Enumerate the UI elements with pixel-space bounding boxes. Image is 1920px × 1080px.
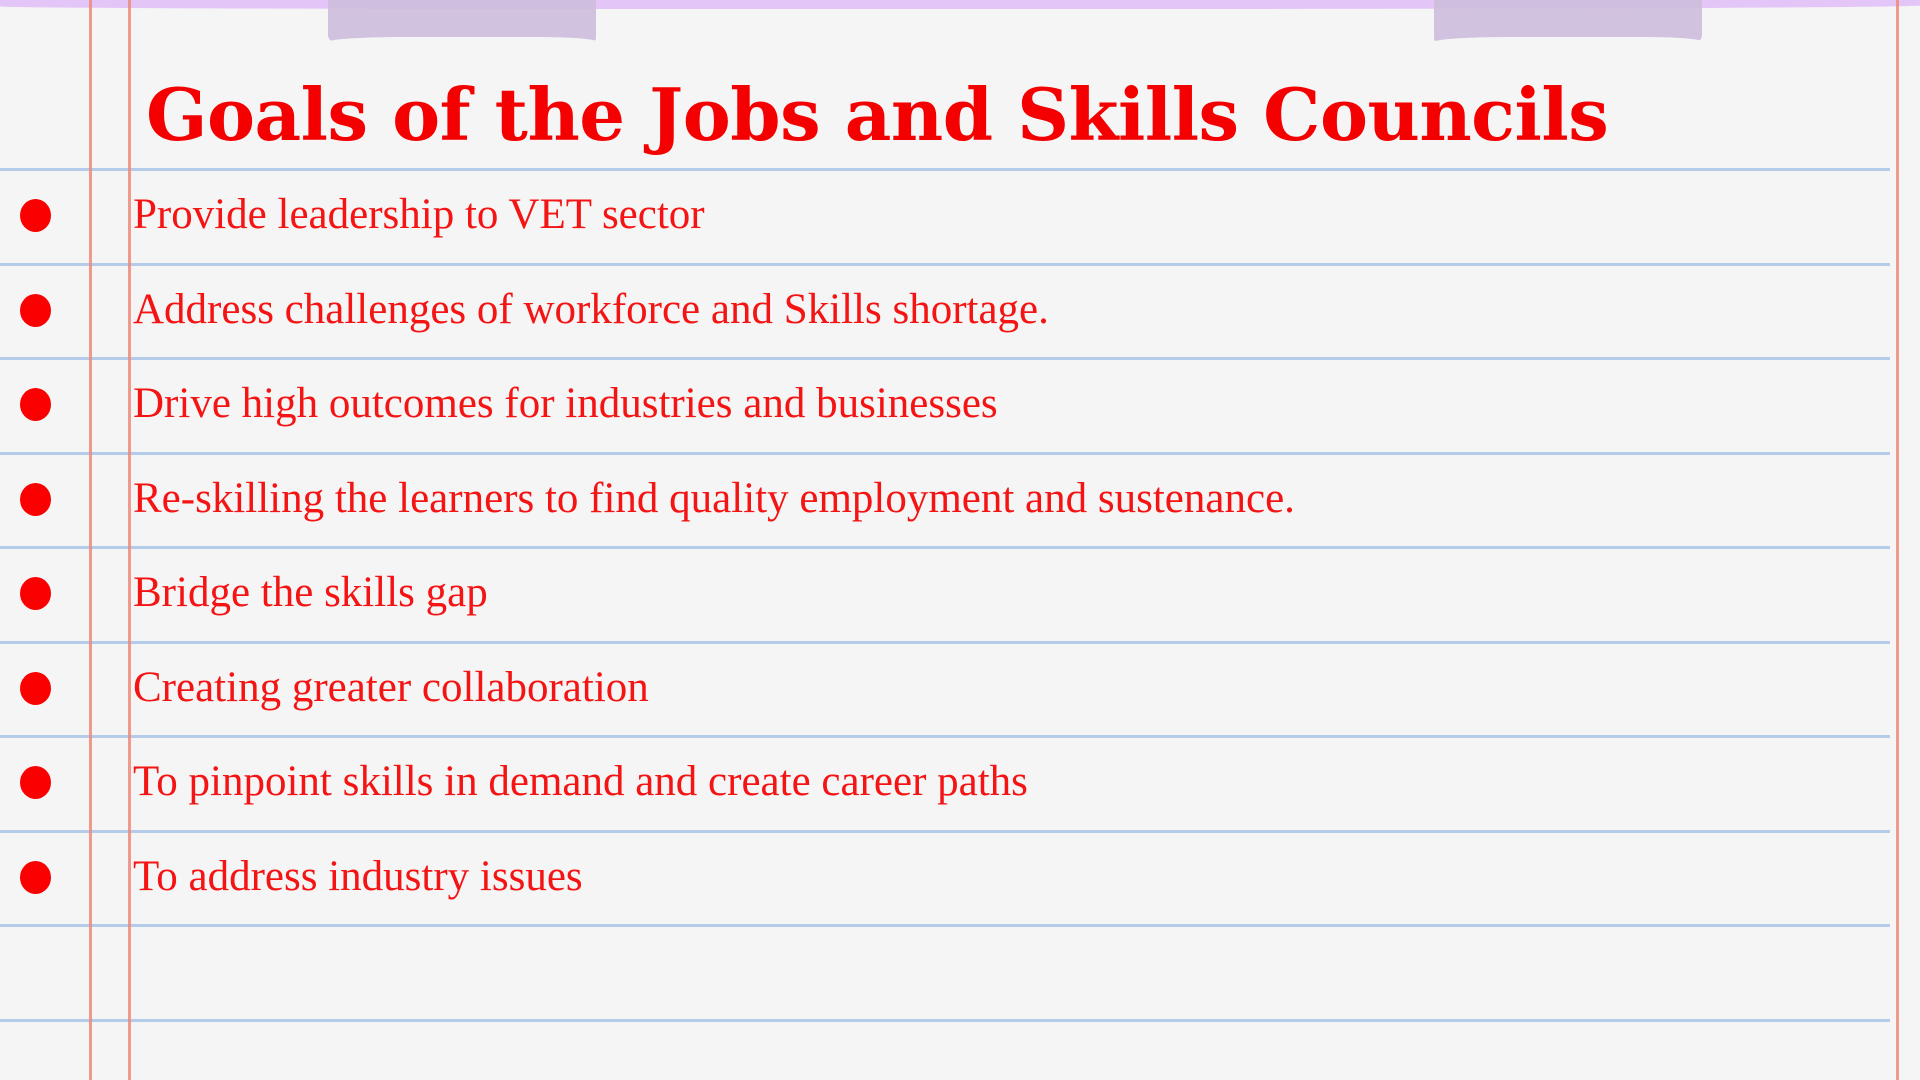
list-item[interactable]: Drive high outcomes for industries and b… [0,357,1920,451]
list-item-label: Provide leadership to VET sector [133,189,705,241]
list-item-label: Bridge the skills gap [133,567,488,619]
ruled-line [0,1019,1890,1022]
tape-strip-right [1434,0,1702,42]
bullet-dot-icon [20,199,51,232]
bullet-dot-icon [20,577,51,610]
bullet-dot-icon [20,766,51,799]
list-item[interactable]: Address challenges of workforce and Skil… [0,263,1920,357]
list-item[interactable]: To pinpoint skills in demand and create … [0,735,1920,829]
tape-strip-left [328,0,596,42]
list-item[interactable]: Creating greater collaboration [0,641,1920,735]
list-item-label: Re-skilling the learners to find quality… [133,473,1295,525]
bullet-dot-icon [20,388,51,421]
list-item-label: To address industry issues [133,851,583,903]
bullet-dot-icon [20,672,51,705]
page-title: Goals of the Jobs and Skills Councils [146,74,1886,156]
slide-canvas: Goals of the Jobs and Skills Councils Pr… [0,0,1920,1080]
bullet-dot-icon [20,861,51,894]
list-item[interactable]: Bridge the skills gap [0,546,1920,640]
list-item-label: Drive high outcomes for industries and b… [133,378,998,430]
ruled-line [0,924,1890,927]
list-item[interactable]: Re-skilling the learners to find quality… [0,452,1920,546]
bullet-dot-icon [20,483,51,516]
bullet-dot-icon [20,294,51,327]
list-item[interactable]: Provide leadership to VET sector [0,168,1920,262]
list-item-label: To pinpoint skills in demand and create … [133,756,1028,808]
list-item-label: Creating greater collaboration [133,662,649,714]
list-item-label: Address challenges of workforce and Skil… [133,284,1049,336]
list-item[interactable]: To address industry issues [0,830,1920,924]
